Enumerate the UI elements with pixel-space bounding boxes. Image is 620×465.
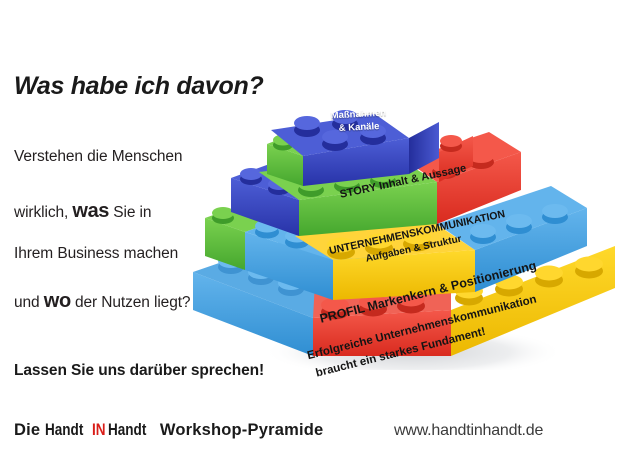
footer-brand-prefix: Die — [14, 421, 45, 439]
studs-green-sliver — [212, 207, 234, 224]
body-line-2: wirklich, was Sie in — [14, 200, 151, 223]
body-line-4: und wo der Nutzen liegt? — [14, 290, 190, 313]
body-line-3: Ihrem Business machen — [14, 245, 178, 263]
footer-brand-handt-second: Handt — [108, 421, 146, 440]
body-line-4-post: der Nutzen liegt? — [71, 294, 191, 311]
footer-brand-handt-first: Handt — [45, 421, 83, 440]
footer-brand-suffix: Workshop-Pyramide — [155, 421, 323, 439]
body-line-2-pre: wirklich, — [14, 204, 72, 221]
website-url[interactable]: www.handtinhandt.de — [394, 422, 543, 440]
footer-brand-in: IN — [92, 421, 106, 440]
footer-brand: Die HandtINHandt Workshop-Pyramide — [14, 421, 323, 440]
body-line-4-pre: und — [14, 294, 44, 311]
body-line-1: Verstehen die Menschen — [14, 148, 182, 166]
studs-red-top-right — [440, 135, 462, 152]
body-line-2-post: Sie in — [109, 204, 151, 221]
body-line-2-emphasis: was — [72, 200, 109, 222]
body-line-4-emphasis: wo — [44, 290, 71, 312]
